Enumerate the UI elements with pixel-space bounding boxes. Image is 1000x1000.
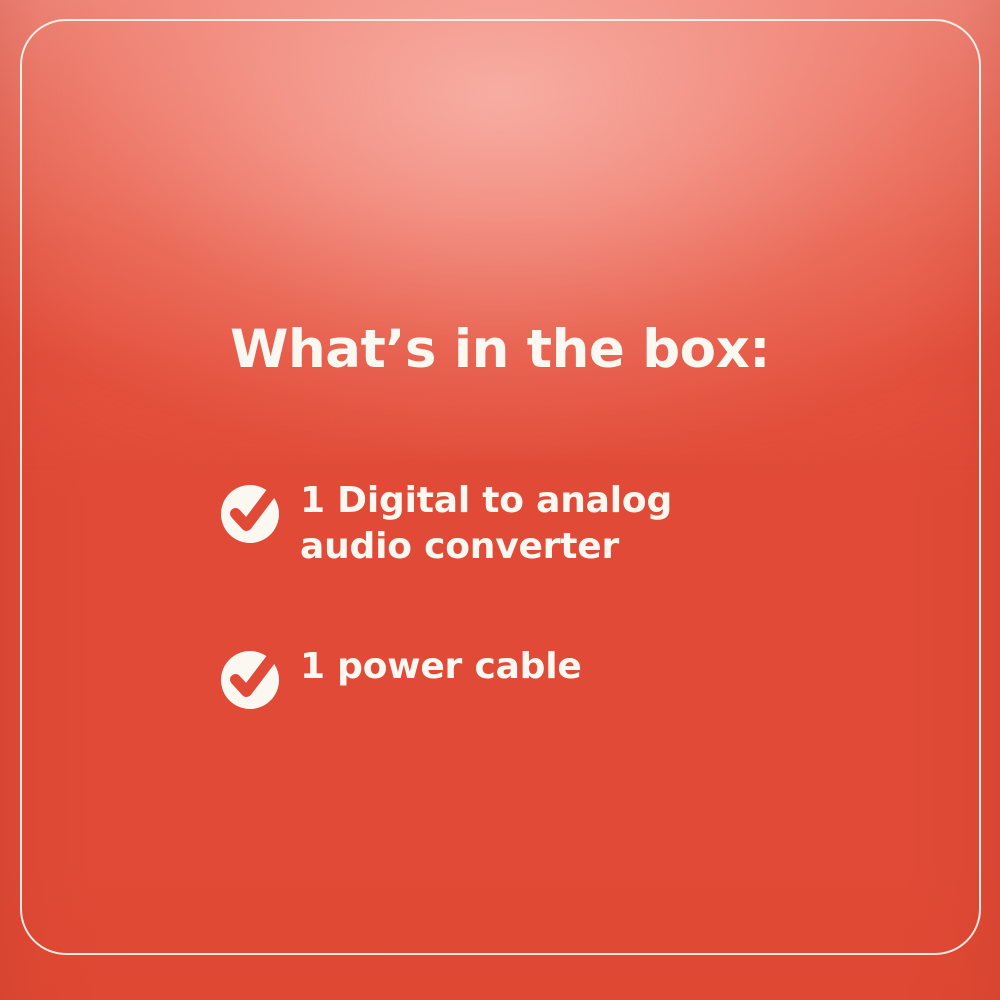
page-title: What’s in the box: xyxy=(0,320,1000,379)
list-item: 1 power cable xyxy=(220,644,820,710)
list-item-label: 1 power cable xyxy=(300,644,582,690)
check-circle-icon xyxy=(220,480,284,544)
check-circle-icon xyxy=(220,646,284,710)
card-content: What’s in the box: 1 Digital to xyxy=(0,0,1000,1000)
list-item-label: 1 Digital to analog audio converter xyxy=(300,478,790,570)
box-contents-list: 1 Digital to analog audio converter xyxy=(220,478,820,710)
product-info-card: What’s in the box: 1 Digital to xyxy=(0,0,1000,1000)
list-item: 1 Digital to analog audio converter xyxy=(220,478,820,570)
